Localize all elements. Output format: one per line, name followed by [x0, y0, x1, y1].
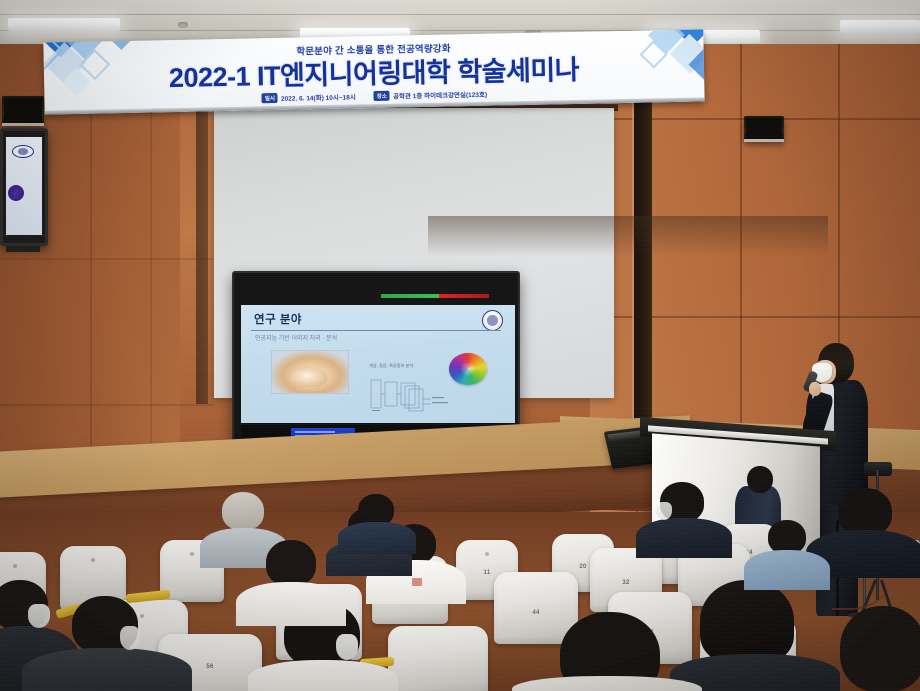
ceiling-sprinkler: [178, 22, 188, 28]
presenter-hand: [809, 382, 821, 396]
banner-date-chip: 일시: [262, 93, 278, 103]
event-banner: 학문분야 간 소통을 통한 전공역량강화 2022-1 IT엔지니어링대학 학술…: [43, 29, 704, 114]
slide-graphic: [8, 185, 24, 201]
slide-title: 연구 분야: [254, 311, 302, 327]
slide-bullet-text: 인공지능 기반 이미지 처리 · 분석: [255, 333, 337, 342]
attendee-standing-head: [747, 466, 773, 493]
seat-number: 11: [484, 570, 491, 576]
wall-speaker-left: [2, 96, 44, 126]
slide-figure-caption: 색상, 질감, 특징정보 분석: [369, 363, 413, 369]
wall-speaker-right: [744, 116, 784, 142]
slide-diagram: [369, 377, 455, 413]
display-top-bezel: [241, 293, 515, 300]
banner-place: 장소 공학관 1층 하이테크강연실(123호): [374, 89, 487, 101]
ceiling-light-1: [8, 18, 120, 31]
ceiling-light-4: [840, 20, 920, 33]
side-monitor[interactable]: [0, 128, 48, 246]
seminar-photo-scene: 학문분야 간 소통을 통한 전공역량강화 2022-1 IT엔지니어링대학 학술…: [0, 0, 920, 691]
banner-date: 일시 2022. 6. 14(화) 10시~18시: [262, 91, 356, 103]
seat-number: 20: [579, 564, 586, 570]
university-emblem-icon: [482, 310, 503, 331]
seat-number: 56: [206, 664, 213, 670]
banner-place-text: 공학관 1층 하이테크강연실(123호): [393, 89, 487, 101]
side-monitor-base: [6, 246, 40, 252]
side-monitor-screen: [6, 137, 42, 235]
seat-number: 32: [622, 580, 629, 586]
slide-canvas: 연구 분야 인공지능 기반 이미지 처리 · 분석 색상, 질감, 특징정보 분…: [241, 305, 515, 423]
banner-place-chip: 장소: [374, 91, 390, 101]
university-emblem-icon: [12, 145, 34, 158]
seat[interactable]: [388, 626, 488, 691]
dog-photo: [271, 350, 349, 394]
seat-number: 44: [532, 610, 539, 616]
banner-date-text: 2022. 6. 14(화) 10시~18시: [281, 91, 356, 103]
